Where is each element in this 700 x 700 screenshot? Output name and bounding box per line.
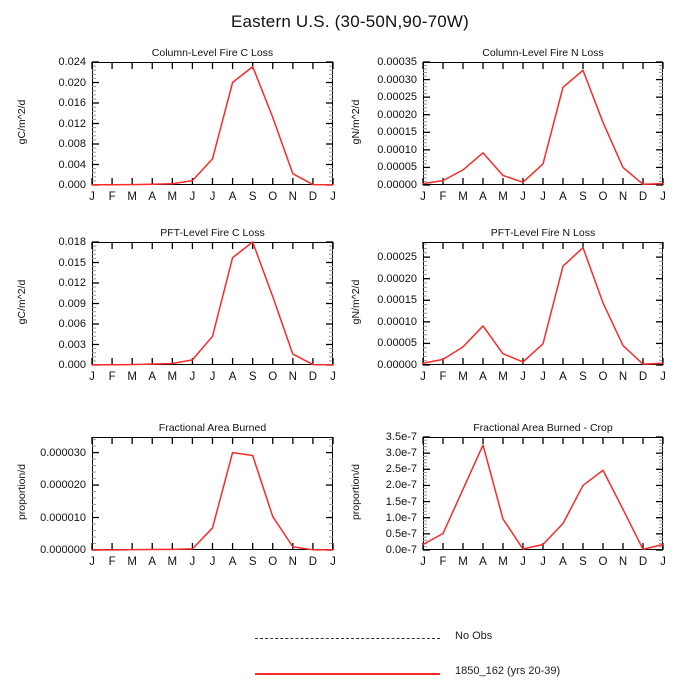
plot-canvas-fractional-area-burned-crop <box>0 0 700 700</box>
data-series-line <box>423 445 663 549</box>
legend-entry-2: 1850_162 (yrs 20-39) <box>255 665 675 683</box>
legend-swatch <box>255 638 440 639</box>
figure-legend: No Obs1850_162 (yrs 20-39) <box>0 630 700 700</box>
legend-label: 1850_162 (yrs 20-39) <box>455 665 560 677</box>
chart-panel-fractional-area-burned-crop: Fractional Area Burned - Cropproportion/… <box>0 0 700 700</box>
legend-entry-1: No Obs <box>255 630 675 648</box>
legend-label: No Obs <box>455 630 492 642</box>
legend-swatch <box>255 673 440 675</box>
